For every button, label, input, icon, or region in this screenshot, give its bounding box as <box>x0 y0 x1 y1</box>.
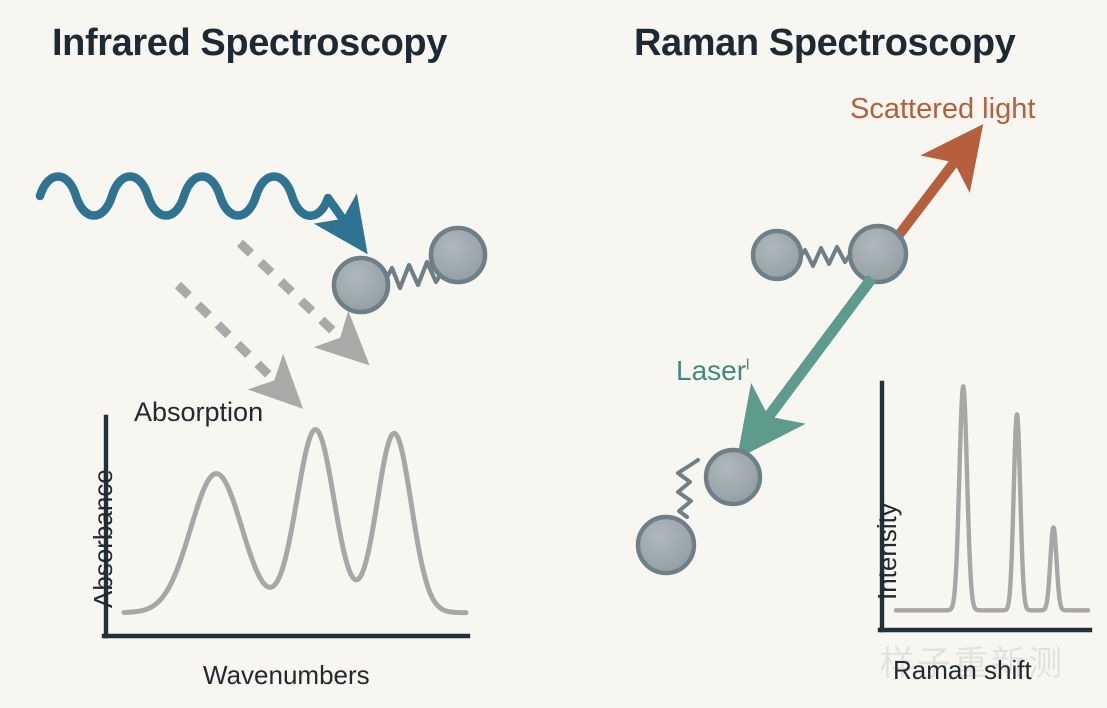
raman-lower-molecule-icon <box>638 450 760 573</box>
raman-spectrum-curve <box>896 386 1088 610</box>
raman-y-axis-label: Intensity <box>872 503 903 600</box>
laser-label: Laserl <box>676 355 749 387</box>
ir-dashed-arrow-left-icon <box>178 285 282 388</box>
laser-label-text: Laser <box>676 355 746 386</box>
ir-x-axis-label: Wavenumbers <box>203 660 370 691</box>
scattered-light-label: Scattered light <box>850 93 1035 126</box>
ir-y-axis-label: Absorbance <box>88 469 119 608</box>
ir-spectrum-curve <box>124 430 466 613</box>
ir-dashed-arrow-right-icon <box>240 243 348 345</box>
ir-molecule-icon <box>334 228 485 312</box>
raman-laser-arrow-icon <box>760 278 872 428</box>
diagram-canvas: Infrared Spectroscopy Raman Spectroscopy <box>0 0 1107 708</box>
ir-incoming-wave-icon <box>40 177 352 233</box>
raman-upper-molecule-icon <box>753 226 906 282</box>
absorption-label: Absorption <box>134 397 263 428</box>
laser-label-superscript: l <box>746 357 749 374</box>
raman-x-axis-label: Raman shift <box>893 655 1032 686</box>
